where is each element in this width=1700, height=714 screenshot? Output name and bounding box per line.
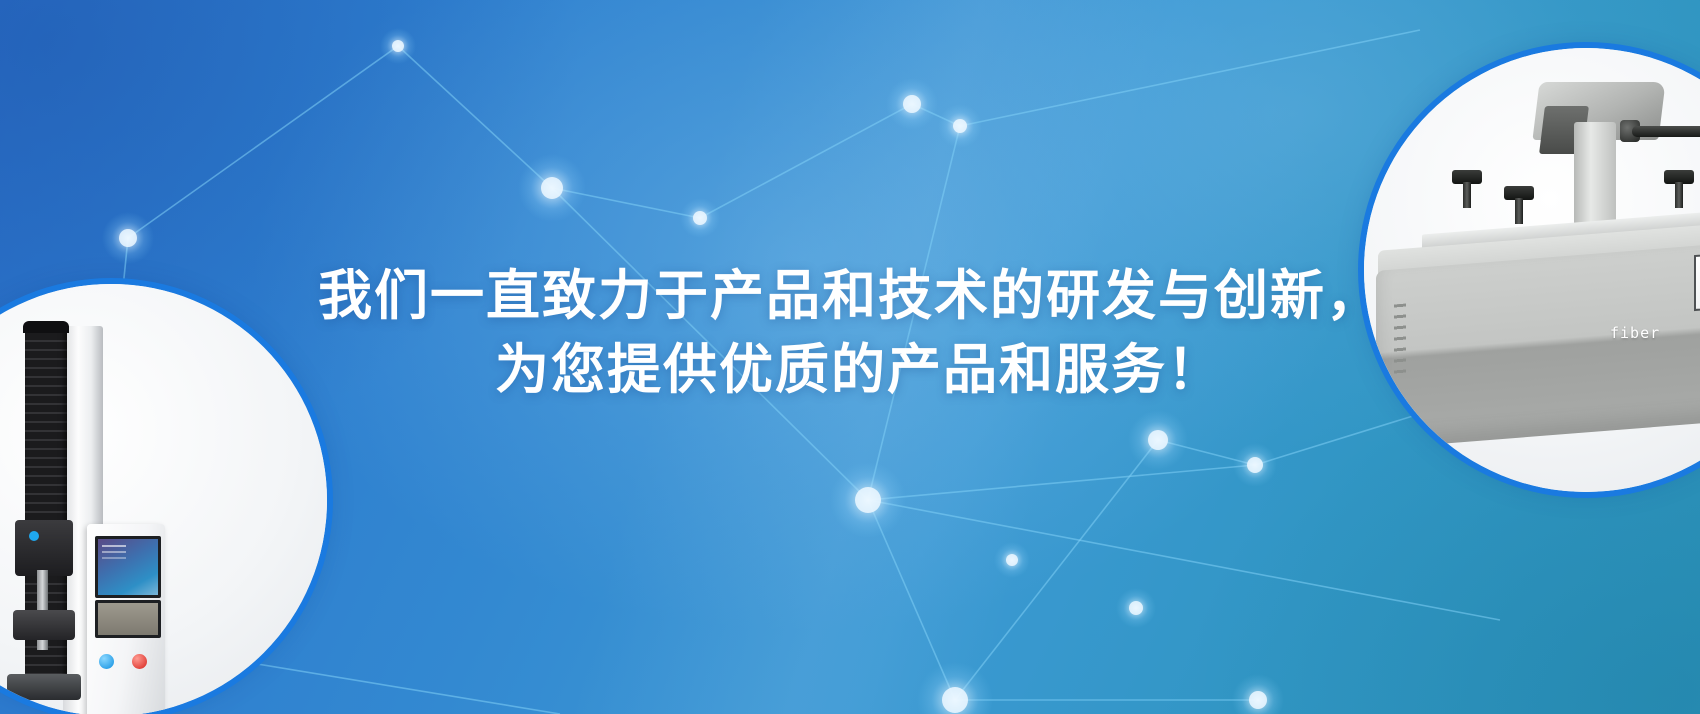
left-product-circle[interactable] — [0, 284, 327, 714]
network-node — [855, 487, 881, 513]
network-link — [868, 465, 1255, 500]
machine-blue-button — [99, 654, 114, 669]
machine-indicator-dot — [29, 531, 39, 541]
tensile-testing-machine-illustration — [0, 284, 327, 714]
network-link — [128, 46, 398, 238]
network-node — [1247, 457, 1263, 473]
tester-shaft — [1632, 126, 1700, 137]
network-link — [960, 30, 1420, 126]
machine-control-panel — [87, 524, 165, 714]
machine-grip-base — [7, 674, 81, 700]
network-node — [1006, 554, 1018, 566]
network-node — [942, 687, 968, 713]
network-link — [700, 104, 912, 218]
network-link — [868, 500, 1500, 620]
network-node — [392, 40, 404, 52]
tester-display-panel — [1694, 249, 1700, 311]
right-product-circle[interactable]: fiber — [1364, 48, 1700, 492]
network-node — [541, 177, 563, 199]
tester-cabinet — [1376, 237, 1700, 449]
fiber-testing-machine-illustration: fiber — [1364, 48, 1700, 492]
promo-banner: 我们一直致力于产品和技术的研发与创新， 为您提供优质的产品和服务！ — [0, 0, 1700, 714]
network-node — [1249, 691, 1267, 709]
machine-keypad — [95, 600, 161, 638]
machine-rail-cap — [23, 321, 69, 333]
tester-clamp-knob — [1452, 170, 1482, 184]
network-link — [955, 440, 1158, 700]
tester-clamp-knob — [1664, 170, 1694, 184]
machine-lcd-screen — [95, 536, 161, 598]
fiber-watermark-label: fiber — [1610, 324, 1660, 342]
network-node — [1129, 601, 1143, 615]
network-node — [693, 211, 707, 225]
network-node — [953, 119, 967, 133]
tester-column — [1574, 122, 1616, 234]
machine-upper-grip — [15, 520, 73, 576]
machine-lower-grip — [13, 610, 75, 640]
network-node — [903, 95, 921, 113]
network-node — [119, 229, 137, 247]
machine-red-button — [132, 654, 147, 669]
tester-vent-slots — [1394, 304, 1406, 375]
tester-clamp-knob — [1504, 186, 1534, 200]
network-node — [1148, 430, 1168, 450]
network-link — [868, 126, 960, 500]
